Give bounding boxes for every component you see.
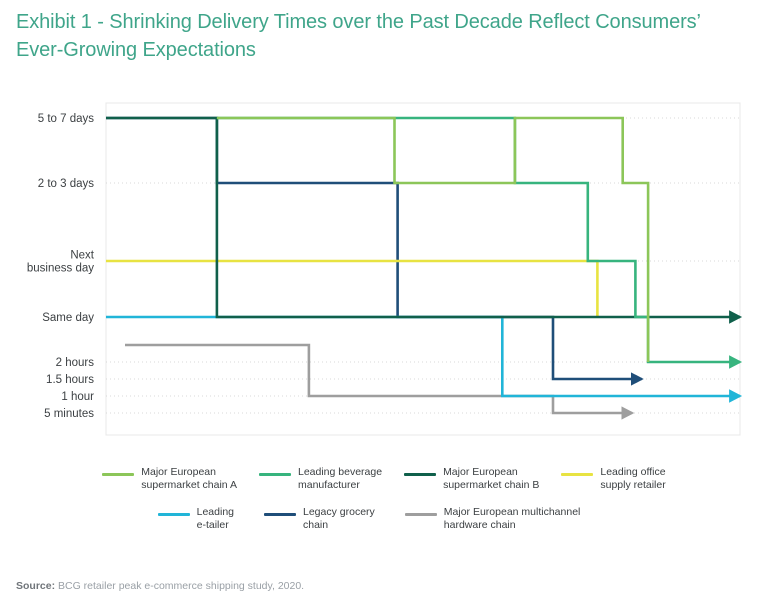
legend-label: Leading e-tailer (197, 506, 234, 532)
legend-swatch-icon (264, 513, 296, 516)
legend-label: Major European supermarket chain A (141, 466, 237, 492)
legend-item-hardware[interactable]: Major European multichannel hardware cha… (405, 506, 581, 532)
source-label: Source: (16, 580, 55, 592)
legend-item-office-supply[interactable]: Leading office supply retailer (561, 466, 665, 492)
y-axis-label: 5 minutes (44, 408, 94, 420)
page-title: Exhibit 1 - Shrinking Delivery Times ove… (16, 8, 716, 64)
legend-item-beverage[interactable]: Leading beverage manufacturer (259, 466, 382, 492)
legend-swatch-icon (102, 473, 134, 476)
source-text: BCG retailer peak e-commerce shipping st… (55, 580, 304, 592)
legend-item-supermarket-a[interactable]: Major European supermarket chain A (102, 466, 237, 492)
y-axis-label: 2 to 3 days (38, 178, 95, 190)
y-axis-label: 1 hour (61, 391, 94, 403)
y-axis-label: 2 hours (56, 357, 95, 369)
legend-label: Leading beverage manufacturer (298, 466, 382, 492)
y-axis-label: Same day (42, 312, 94, 324)
chart-svg: 5 to 7 days2 to 3 daysNextbusiness daySa… (0, 95, 768, 445)
legend-row-1: Major European supermarket chain ALeadin… (0, 466, 768, 492)
legend-label: Major European multichannel hardware cha… (444, 506, 581, 532)
legend-row-2: Leading e-tailerLegacy grocery chainMajo… (0, 506, 768, 532)
legend-item-legacy-grocery[interactable]: Legacy grocery chain (264, 506, 375, 532)
legend-swatch-icon (561, 473, 593, 476)
legend-item-e-tailer[interactable]: Leading e-tailer (158, 506, 234, 532)
y-axis-label: 1.5 hours (46, 374, 94, 386)
y-axis-label: 5 to 7 days (38, 113, 95, 125)
chart-plot-area: 5 to 7 days2 to 3 daysNextbusiness daySa… (0, 95, 768, 445)
y-axis-label: business day (27, 263, 94, 275)
legend-label: Legacy grocery chain (303, 506, 375, 532)
plot-frame (106, 103, 740, 435)
legend-swatch-icon (404, 473, 436, 476)
chart-legend: Major European supermarket chain ALeadin… (0, 466, 768, 532)
legend-label: Leading office supply retailer (600, 466, 665, 492)
legend-label: Major European supermarket chain B (443, 466, 539, 492)
legend-swatch-icon (259, 473, 291, 476)
legend-swatch-icon (405, 513, 437, 516)
legend-item-supermarket-b[interactable]: Major European supermarket chain B (404, 466, 539, 492)
legend-swatch-icon (158, 513, 190, 516)
y-axis-label: Next (70, 250, 94, 262)
source-note: Source: BCG retailer peak e-commerce shi… (16, 580, 304, 592)
